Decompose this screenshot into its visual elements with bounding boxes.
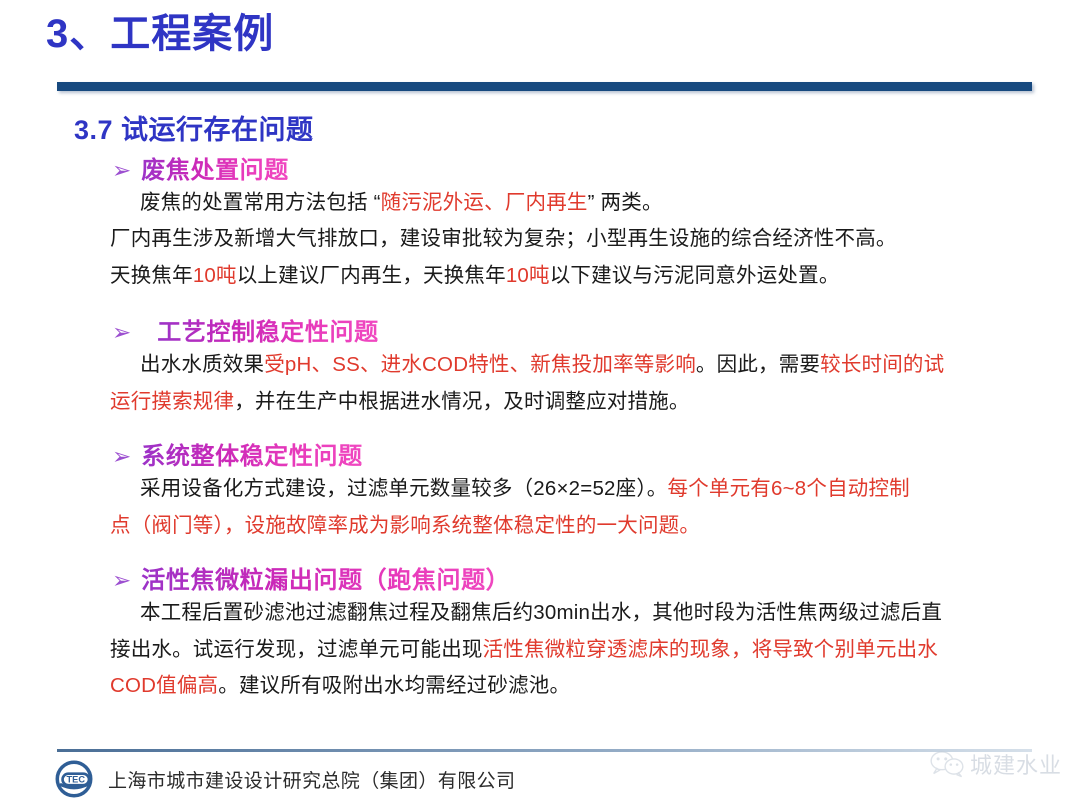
paragraph-line: 废焦的处置常用方法包括 “随污泥外运、厂内再生” 两类。	[0, 185, 1080, 221]
content-block: ➢活性焦微粒漏出问题（跑焦问题）本工程后置砂滤池过滤翻焦过程及翻焦后约30min…	[0, 560, 1080, 704]
emphasis-text: 运行摸索规律	[110, 390, 234, 413]
section-heading: 3.7 试运行存在问题	[74, 108, 314, 147]
title-divider	[57, 82, 1032, 91]
body-text: 废焦的处置常用方法包括 “	[140, 191, 381, 214]
paragraph-line: 采用设备化方式建设，过滤单元数量较多（26×2=52座）。每个单元有6~8个自动…	[0, 471, 1080, 507]
emphasis-text: COD值偏高	[110, 674, 218, 697]
bullet-heading-label: 活性焦微粒漏出问题（跑焦问题）	[141, 560, 510, 595]
bullet-arrow-icon: ➢	[112, 159, 131, 182]
bullet-heading-label: 工艺控制稳定性问题	[157, 312, 378, 347]
emphasis-text: 点（阀门等），设施故障率成为影响系统整体稳定性的一大问题。	[110, 514, 700, 537]
paragraph-line: 本工程后置砂滤池过滤翻焦过程及翻焦后约30min出水，其他时段为活性焦两级过滤后…	[0, 595, 1080, 631]
body-text: 厂内再生涉及新增大气排放口，建设审批较为复杂；小型再生设施的综合经济性不高。	[110, 227, 897, 250]
emphasis-text: 较长时间的试	[820, 353, 944, 376]
bullet-heading-label: 系统整体稳定性问题	[141, 436, 362, 471]
tec-logo-icon: TEC	[52, 757, 96, 801]
footer-divider	[57, 749, 1032, 752]
body-text: 。建议所有吸附出水均需经过砂滤池。	[218, 674, 570, 697]
body-text: 接出水。试运行发现，过滤单元可能出现	[110, 638, 483, 661]
footer: TEC 上海市城市建设设计研究总院（集团）有限公司	[52, 757, 515, 801]
body-text: ” 两类。	[588, 191, 663, 214]
watermark-label: 城建水业	[970, 748, 1062, 780]
emphasis-text: 随污泥外运、厂内再生	[381, 191, 588, 214]
paragraph-line: COD值偏高。建议所有吸附出水均需经过砂滤池。	[0, 668, 1080, 704]
bullet-arrow-icon: ➢	[112, 569, 131, 592]
bullet-heading-row: ➢废焦处置问题	[0, 150, 1080, 185]
page-title: 3、工程案例	[46, 14, 274, 54]
paragraph-line: 接出水。试运行发现，过滤单元可能出现活性焦微粒穿透滤床的现象，将导致个别单元出水	[0, 632, 1080, 668]
paragraph-line: 厂内再生涉及新增大气排放口，建设审批较为复杂；小型再生设施的综合经济性不高。	[0, 221, 1080, 257]
body-text: 采用设备化方式建设，过滤单元数量较多（26×2=52座）。	[140, 477, 668, 500]
emphasis-text: 每个单元有6~8个自动控制	[668, 477, 910, 500]
wechat-icon	[928, 749, 966, 779]
body-text: 以上建议厂内再生，天换焦年	[237, 264, 506, 287]
content-body: ➢废焦处置问题废焦的处置常用方法包括 “随污泥外运、厂内再生” 两类。厂内再生涉…	[0, 150, 1080, 705]
content-block: ➢废焦处置问题废焦的处置常用方法包括 “随污泥外运、厂内再生” 两类。厂内再生涉…	[0, 150, 1080, 294]
body-text: 以下建议与污泥同意外运处置。	[550, 264, 840, 287]
slide-canvas: 3、工程案例 3.7 试运行存在问题 ➢废焦处置问题废焦的处置常用方法包括 “随…	[0, 0, 1080, 803]
body-text: 本工程后置砂滤池过滤翻焦过程及翻焦后约30min出水，其他时段为活性焦两级过滤后…	[140, 601, 942, 624]
bullet-arrow-icon: ➢	[112, 445, 131, 468]
emphasis-text: 10吨	[506, 264, 550, 287]
paragraph-line: 点（阀门等），设施故障率成为影响系统整体稳定性的一大问题。	[0, 508, 1080, 544]
paragraph-line: 天换焦年10吨以上建议厂内再生，天换焦年10吨以下建议与污泥同意外运处置。	[0, 258, 1080, 294]
emphasis-text: 受pH、SS、进水COD特性、新焦投加率等影响	[264, 353, 696, 376]
emphasis-text: 10吨	[193, 264, 237, 287]
body-text: 出水水质效果	[140, 353, 264, 376]
content-block: ➢系统整体稳定性问题采用设备化方式建设，过滤单元数量较多（26×2=52座）。每…	[0, 436, 1080, 544]
watermark: 城建水业	[928, 748, 1062, 780]
body-text: 。因此，需要	[696, 353, 820, 376]
content-block: ➢工艺控制稳定性问题出水水质效果受pH、SS、进水COD特性、新焦投加率等影响。…	[0, 312, 1080, 420]
bullet-heading-row: ➢工艺控制稳定性问题	[0, 312, 1080, 347]
body-text: 天换焦年	[110, 264, 193, 287]
svg-text:TEC: TEC	[67, 775, 86, 785]
emphasis-text: 活性焦微粒穿透滤床的现象，将导致个别单元出水	[483, 638, 938, 661]
bullet-heading-row: ➢活性焦微粒漏出问题（跑焦问题）	[0, 560, 1080, 595]
bullet-heading-label: 废焦处置问题	[141, 150, 289, 185]
bullet-heading-row: ➢系统整体稳定性问题	[0, 436, 1080, 471]
paragraph-line: 出水水质效果受pH、SS、进水COD特性、新焦投加率等影响。因此，需要较长时间的…	[0, 347, 1080, 383]
bullet-arrow-icon: ➢	[112, 321, 131, 344]
body-text: ，并在生产中根据进水情况，及时调整应对措施。	[234, 390, 689, 413]
paragraph-line: 运行摸索规律，并在生产中根据进水情况，及时调整应对措施。	[0, 384, 1080, 420]
footer-company-name: 上海市城市建设设计研究总院（集团）有限公司	[108, 766, 515, 793]
